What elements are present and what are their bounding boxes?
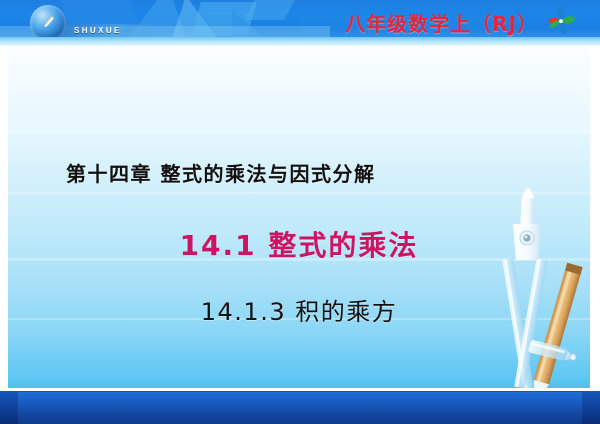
rj-leaf-logo-icon	[542, 4, 580, 40]
pen-glyph-icon	[39, 14, 57, 32]
footer-inner-panel	[18, 392, 582, 424]
presentation-slide: SHUXUE 八年级数学上（RJ）	[0, 0, 600, 424]
slide-header-bar: SHUXUE 八年级数学上（RJ）	[0, 0, 600, 46]
header-logo-label: SHUXUE	[74, 26, 122, 35]
background-band	[8, 130, 590, 133]
shuxue-logo-icon	[30, 5, 66, 41]
footer-top-rule	[0, 388, 600, 391]
header-bottom-sheen	[0, 37, 600, 46]
chapter-title: 第十四章 整式的乘法与因式分解	[66, 158, 536, 187]
slide-footer-bar	[0, 388, 600, 424]
compass-head	[513, 188, 541, 260]
course-title-label: 八年级数学上（RJ）	[345, 8, 538, 37]
header-polygon-decor	[244, 0, 300, 20]
